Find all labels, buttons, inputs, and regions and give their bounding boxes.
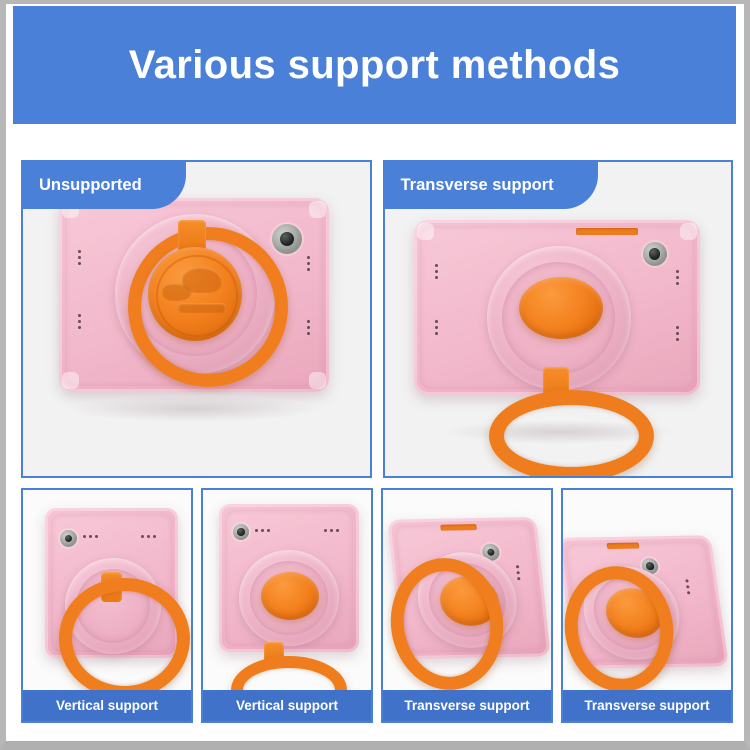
panel-vertical-support-1: Vertical support	[21, 488, 193, 723]
product-image-vertical-1	[23, 490, 191, 690]
orange-ring-stand	[489, 390, 654, 478]
corner-bumper	[62, 372, 79, 389]
product-image-transverse	[385, 162, 732, 476]
camera-lens	[233, 524, 249, 540]
vent-dots	[255, 529, 270, 532]
panel-tab-label: Transverse support	[385, 162, 598, 209]
panel-transverse-support-1: Transverse support	[381, 488, 553, 723]
header-banner: Various support methods	[13, 6, 736, 124]
tablet-body	[59, 198, 329, 392]
dinosaur-medallion	[148, 247, 242, 341]
corner-bumper	[417, 223, 434, 240]
bottom-panel-row: Vertical support Vertical support	[21, 488, 733, 723]
camera-lens	[272, 224, 302, 254]
product-image-vertical-2	[203, 490, 371, 690]
vent-dots	[676, 326, 679, 341]
top-panel-row: Unsupported	[21, 160, 733, 478]
stylus-slot	[576, 228, 638, 235]
dinosaur-medallion	[519, 277, 603, 339]
tablet-body	[219, 504, 359, 652]
vent-dots	[324, 529, 339, 532]
stylus-slot	[440, 524, 477, 531]
product-image-transverse-2	[563, 490, 731, 690]
page-title: Various support methods	[129, 45, 621, 85]
panel-caption: Transverse support	[383, 690, 551, 721]
vent-dots	[435, 264, 438, 279]
vent-dots	[307, 256, 310, 271]
camera-lens	[643, 242, 667, 266]
vent-dots	[78, 314, 81, 329]
stylus-slot	[606, 543, 639, 550]
product-image-transverse-1	[383, 490, 551, 690]
product-image-unsupported	[23, 162, 370, 476]
dino-head	[182, 267, 222, 293]
dino-jaw	[178, 303, 226, 313]
orange-ring-stand	[231, 656, 347, 690]
panel-tab-label: Unsupported	[23, 162, 186, 209]
corner-bumper	[680, 223, 697, 240]
product-infographic: Various support methods Unsupported	[0, 0, 750, 750]
camera-lens	[60, 530, 77, 547]
vent-dots	[307, 320, 310, 335]
dinosaur-medallion	[261, 572, 319, 620]
vent-dots	[78, 250, 81, 265]
corner-bumper	[309, 372, 326, 389]
vent-dots	[435, 320, 438, 335]
panel-transverse-support-large: Transverse support	[383, 160, 734, 478]
orange-ring-stand	[59, 578, 190, 690]
corner-bumper	[309, 201, 326, 218]
vent-dots	[141, 535, 156, 538]
vent-dots	[676, 270, 679, 285]
panel-unsupported: Unsupported	[21, 160, 372, 478]
panel-transverse-support-2: Transverse support	[561, 488, 733, 723]
panel-caption: Transverse support	[563, 690, 731, 721]
vent-dots	[83, 535, 98, 538]
panel-vertical-support-2: Vertical support	[201, 488, 373, 723]
panel-caption: Vertical support	[23, 690, 191, 721]
drop-shadow	[67, 396, 319, 422]
panel-caption: Vertical support	[203, 690, 371, 721]
